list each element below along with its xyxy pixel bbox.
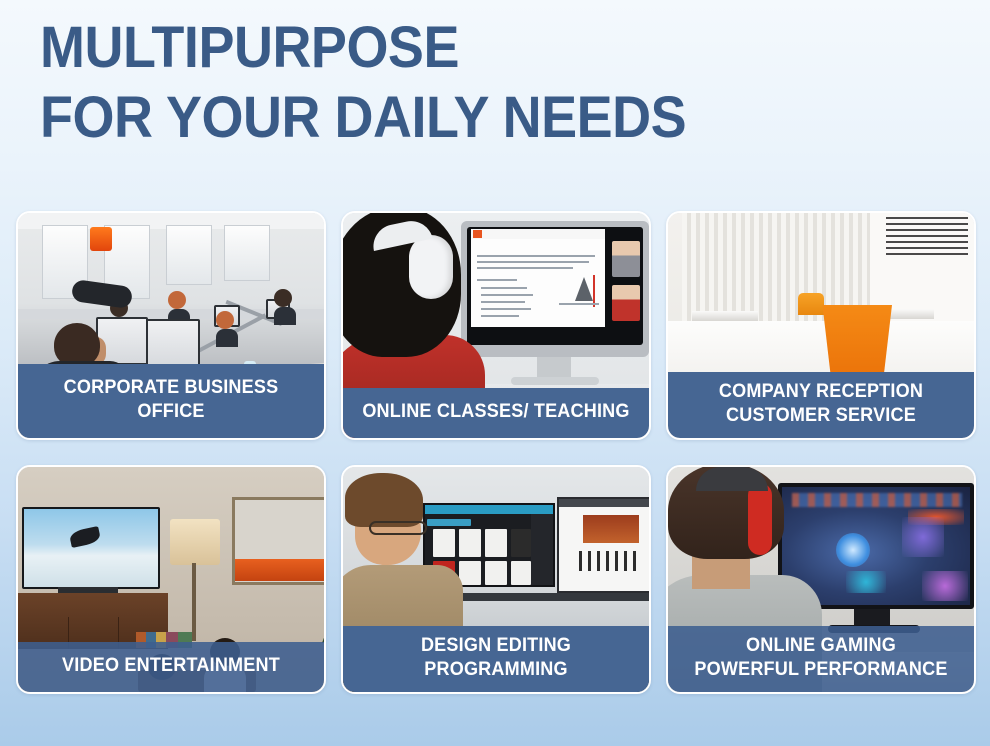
caption-line: CUSTOMER SERVICE [681, 404, 960, 428]
card-online-classes-teaching[interactable]: ONLINE CLASSES/ TEACHING [341, 211, 651, 440]
card-caption: VIDEO ENTERTAINMENT [18, 642, 324, 692]
video-thumbnail-teacher [612, 241, 640, 277]
page-title: MULTIPURPOSE FOR YOUR DAILY NEEDS [40, 18, 940, 148]
student [343, 213, 481, 407]
geometry-diagram [559, 275, 601, 309]
coworker [216, 311, 238, 345]
floor-lamp [170, 519, 220, 565]
video-thumbnail-student [612, 285, 640, 321]
caption-line: DESIGN EDITING [356, 634, 635, 658]
card-caption: CORPORATE BUSINESS OFFICE [18, 364, 324, 438]
monitor-right [557, 497, 649, 593]
card-online-gaming-powerful-performance[interactable]: ONLINE GAMING POWERFUL PERFORMANCE [666, 465, 976, 694]
monitor [146, 319, 200, 369]
card-caption: ONLINE GAMING POWERFUL PERFORMANCE [668, 626, 974, 692]
caption-line: ONLINE CLASSES/ TEACHING [356, 400, 635, 424]
headphones-icon [409, 235, 453, 299]
headset-icon [748, 483, 772, 555]
title-line-1: MULTIPURPOSE [40, 18, 877, 78]
card-row-2: VIDEO ENTERTAINMENT [16, 465, 978, 694]
monitor-screen [467, 227, 643, 345]
card-video-entertainment[interactable]: VIDEO ENTERTAINMENT [16, 465, 326, 694]
wall-text-block [886, 217, 968, 257]
coworker [274, 289, 296, 323]
card-caption: DESIGN EDITING PROGRAMMING [343, 626, 649, 692]
title-line-2: FOR YOUR DAILY NEEDS [40, 88, 877, 148]
card-design-editing-programming[interactable]: DESIGN EDITING PROGRAMMING [341, 465, 651, 694]
caption-line: PROGRAMMING [356, 658, 635, 682]
card-row-1: CORPORATE BUSINESS OFFICE [16, 211, 978, 440]
card-caption: ONLINE CLASSES/ TEACHING [343, 388, 649, 438]
orange-box-decor [90, 227, 112, 251]
caption-line: ONLINE GAMING [681, 634, 960, 658]
caption-line: VIDEO ENTERTAINMENT [31, 654, 310, 678]
card-corporate-business-office[interactable]: CORPORATE BUSINESS OFFICE [16, 211, 326, 440]
feature-card-grid: CORPORATE BUSINESS OFFICE [16, 211, 978, 694]
caption-line: COMPANY RECEPTION [681, 380, 960, 404]
card-caption: COMPANY RECEPTION CUSTOMER SERVICE [668, 372, 974, 438]
caption-line: POWERFUL PERFORMANCE [681, 658, 960, 682]
card-company-reception-customer-service[interactable]: COMPANY RECEPTION CUSTOMER SERVICE [666, 211, 976, 440]
glasses-icon [369, 521, 427, 535]
caption-line: CORPORATE BUSINESS OFFICE [31, 376, 310, 424]
